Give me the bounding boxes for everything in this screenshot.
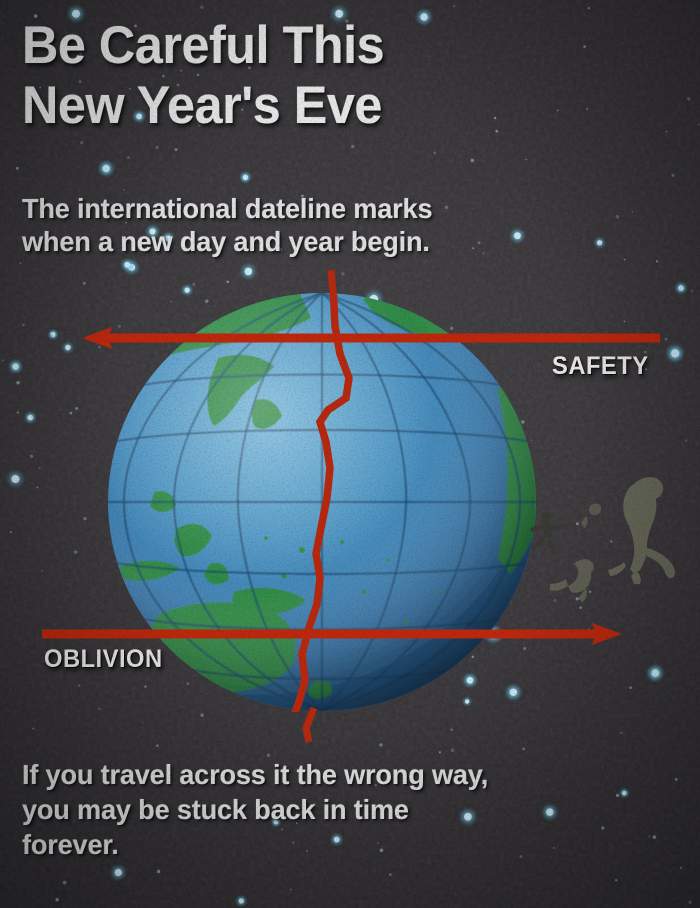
globe-shading (108, 293, 536, 711)
dinosaur-figures (530, 466, 700, 616)
poster-canvas: Be Careful This New Year's Eve The inter… (0, 0, 700, 908)
arrow-label-oblivion: OBLIVION (44, 645, 163, 674)
running-person-silhouette (530, 512, 568, 555)
subhead-line-1: The international dateline marks (22, 193, 432, 224)
dino-fragment (581, 503, 601, 528)
arrow-label-safety: SAFETY (552, 352, 649, 381)
headline-line-2: New Year's Eve (22, 76, 592, 136)
caption-line-1: If you travel across it the wrong way, (22, 757, 662, 792)
page-title: Be Careful This New Year's Eve (22, 16, 592, 136)
caption: If you travel across it the wrong way, y… (22, 757, 662, 862)
headline-line-1: Be Careful This (22, 16, 384, 75)
caption-line-2: you may be stuck back in time (22, 792, 662, 827)
small-dinosaur-silhouette (550, 559, 594, 602)
caption-line-3: forever. (22, 827, 662, 862)
globe-illustration (106, 292, 538, 712)
subhead-line-2: when a new day and year begin. (22, 225, 623, 258)
large-dinosaur-silhouette (608, 477, 675, 584)
subtitle: The international dateline marks when a … (22, 192, 623, 258)
